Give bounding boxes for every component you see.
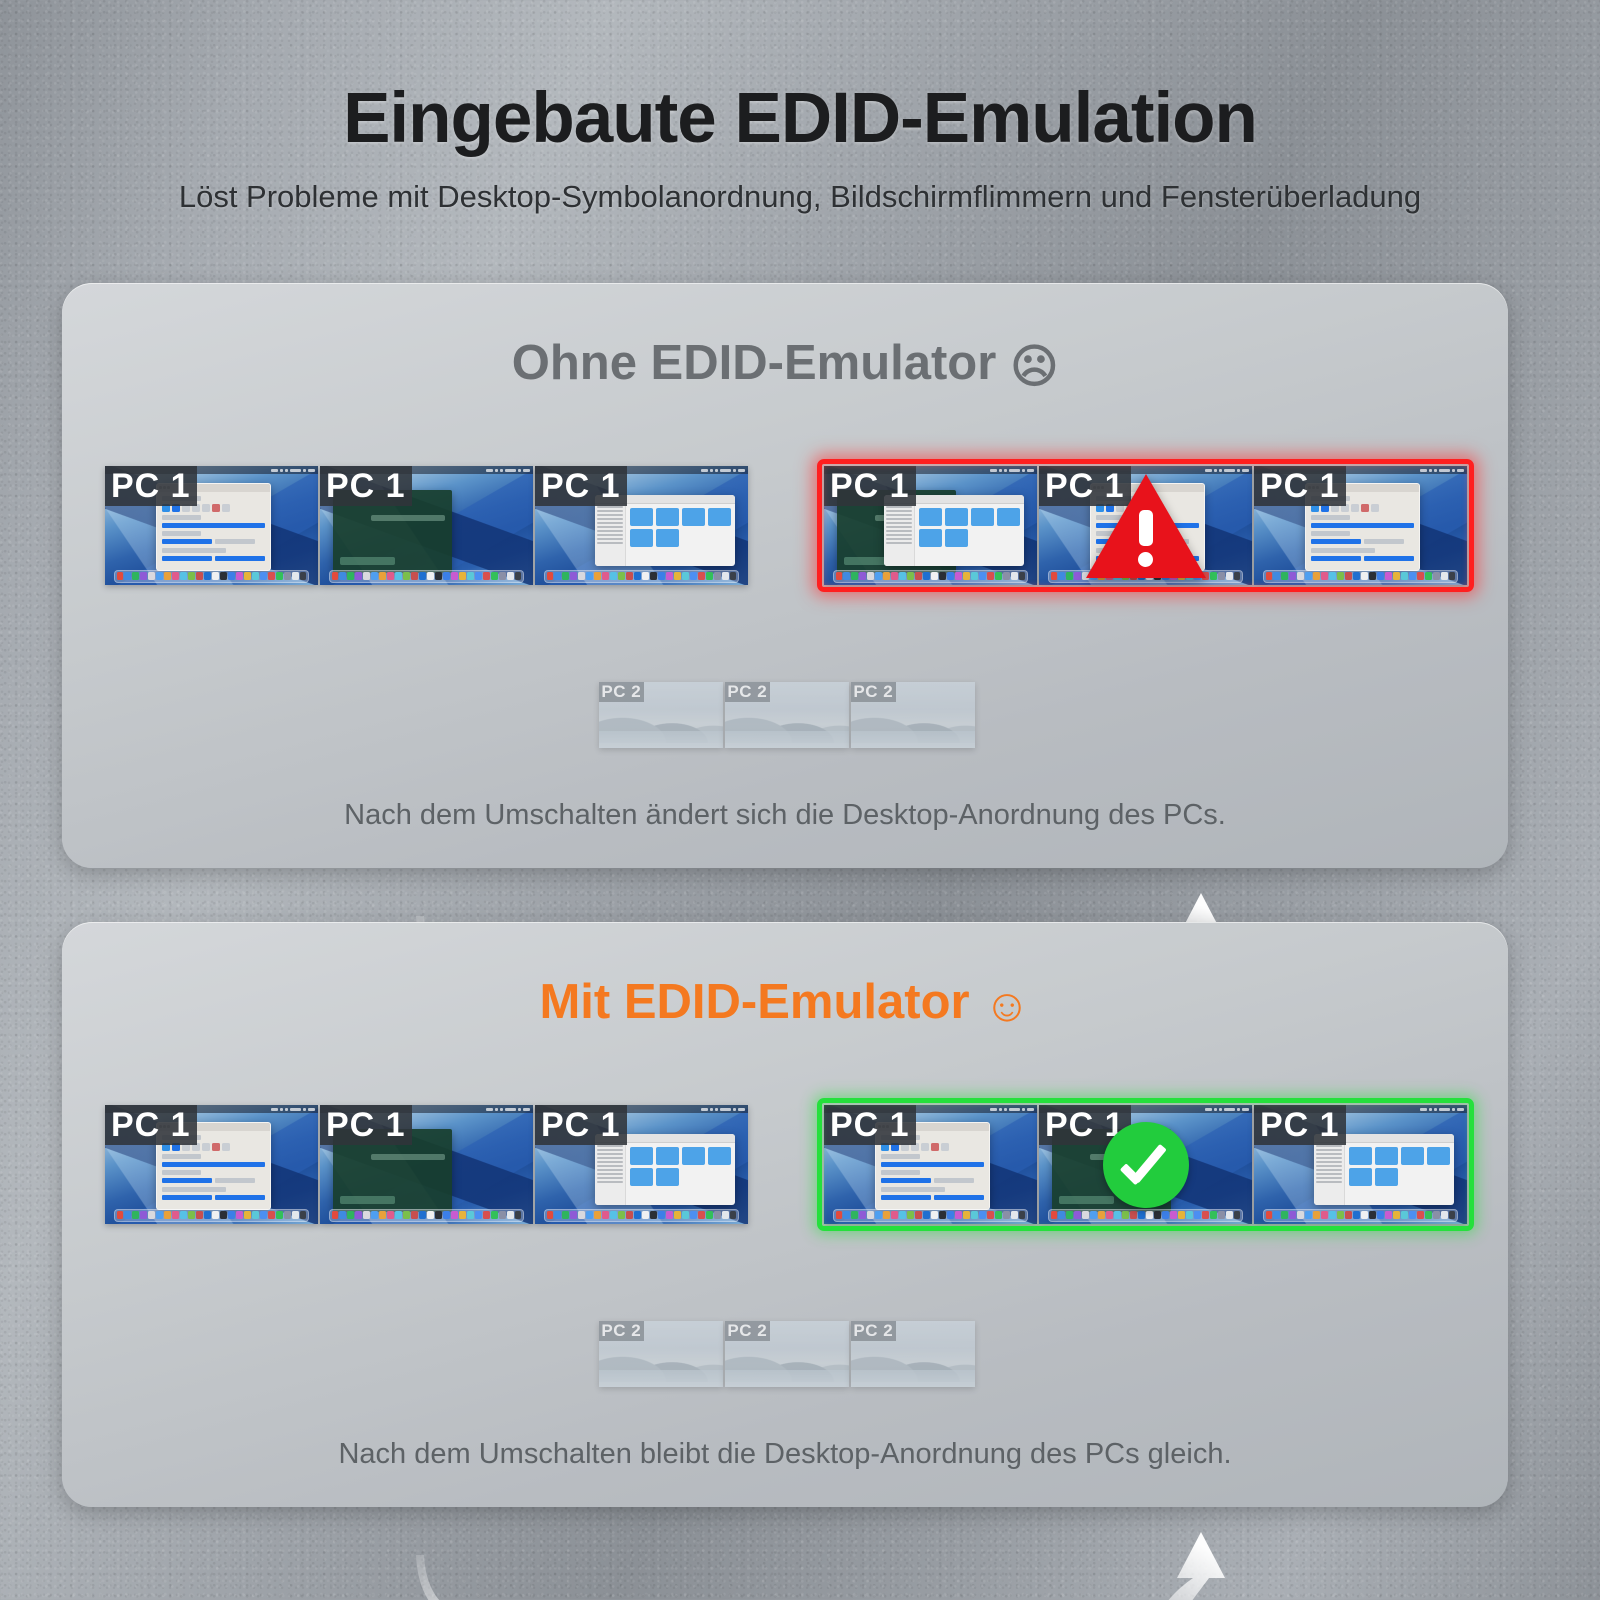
monitor-thumbnail: PC 2 <box>725 1321 849 1387</box>
monitor-group-left-without: PC 1PC 1PC 1 <box>105 466 748 585</box>
monitor-thumbnail: PC 1 <box>320 466 533 585</box>
mac-dock <box>833 570 1029 583</box>
mac-dock <box>1048 1209 1244 1222</box>
page-header: Eingebaute EDID-Emulation Löst Probleme … <box>0 0 1600 215</box>
monitor-group-middle-with: PC 2PC 2PC 2 <box>599 1321 975 1387</box>
panel-with-heading: Mit EDID-Emulator☺ <box>62 974 1508 1032</box>
monitor-label-badge: PC 1 <box>535 466 627 506</box>
panel-without-edid-emulator: Ohne EDID-Emulator☹ PC 1PC 1PC 1 PC 2PC … <box>62 283 1508 868</box>
monitor-thumbnail: PC 1 <box>320 1105 533 1224</box>
mac-dock <box>544 570 740 583</box>
mac-dock <box>833 1209 1029 1222</box>
mac-dock <box>1263 1209 1459 1222</box>
monitor-label-badge: PC 1 <box>824 1105 916 1145</box>
monitor-group-middle-without: PC 2PC 2PC 2 <box>599 682 975 748</box>
panel-with-caption: Nach dem Umschalten bleibt die Desktop-A… <box>62 1438 1508 1471</box>
mac-dock <box>114 1209 310 1222</box>
mac-dock <box>329 1209 525 1222</box>
monitor-label-badge: PC 2 <box>599 1321 644 1341</box>
panel-without-caption: Nach dem Umschalten ändert sich die Desk… <box>62 799 1508 832</box>
page-subtitle: Löst Probleme mit Desktop-Symbolanordnun… <box>0 179 1600 215</box>
monitor-thumbnail: PC 1 <box>1254 1105 1467 1224</box>
monitor-label-badge: PC 2 <box>851 682 896 702</box>
monitor-label-badge: PC 1 <box>320 466 412 506</box>
monitor-label-badge: PC 2 <box>725 682 770 702</box>
monitor-thumbnail: PC 2 <box>725 682 849 748</box>
monitor-thumbnail: PC 2 <box>599 682 723 748</box>
monitor-thumbnail: PC 1 <box>105 466 318 585</box>
monitor-label-badge: PC 1 <box>535 1105 627 1145</box>
warning-triangle-icon <box>1086 474 1206 578</box>
arrow-switch-up-icon <box>1143 1526 1239 1600</box>
panel-without-heading-text: Ohne EDID-Emulator <box>512 336 997 390</box>
monitor-label-badge: PC 1 <box>105 466 197 506</box>
check-circle-icon <box>1103 1122 1189 1208</box>
monitor-label-badge: PC 1 <box>320 1105 412 1145</box>
monitor-thumbnail: PC 1 <box>1254 466 1467 585</box>
mac-dock <box>1263 570 1459 583</box>
panel-without-heading: Ohne EDID-Emulator☹ <box>62 335 1508 393</box>
monitor-thumbnail: PC 1 <box>824 1105 1037 1224</box>
monitor-thumbnail: PC 1 <box>535 1105 748 1224</box>
monitor-label-badge: PC 1 <box>824 466 916 506</box>
monitor-label-badge: PC 2 <box>725 1321 770 1341</box>
monitor-label-badge: PC 2 <box>599 682 644 702</box>
happy-face-icon: ☺ <box>984 979 1031 1031</box>
monitor-label-badge: PC 1 <box>105 1105 197 1145</box>
monitor-thumbnail: PC 1 <box>105 1105 318 1224</box>
monitor-thumbnail: PC 1 <box>535 466 748 585</box>
page-title: Eingebaute EDID-Emulation <box>0 78 1600 159</box>
sad-face-icon: ☹ <box>1010 340 1058 392</box>
mac-dock <box>329 570 525 583</box>
arrow-switch-down-icon <box>414 1551 534 1600</box>
monitor-label-badge: PC 1 <box>1254 466 1346 506</box>
monitor-label-badge: PC 2 <box>851 1321 896 1341</box>
monitor-thumbnail: PC 2 <box>851 1321 975 1387</box>
monitor-group-left-with: PC 1PC 1PC 1 <box>105 1105 748 1224</box>
monitor-label-badge: PC 1 <box>1254 1105 1346 1145</box>
mac-dock <box>544 1209 740 1222</box>
monitor-thumbnail: PC 2 <box>851 682 975 748</box>
mac-dock <box>114 570 310 583</box>
panel-with-heading-text: Mit EDID-Emulator <box>539 975 969 1029</box>
panel-with-edid-emulator: Mit EDID-Emulator☺ PC 1PC 1PC 1 PC 2PC 2… <box>62 922 1508 1507</box>
monitor-thumbnail: PC 1 <box>824 466 1037 585</box>
monitor-thumbnail: PC 2 <box>599 1321 723 1387</box>
